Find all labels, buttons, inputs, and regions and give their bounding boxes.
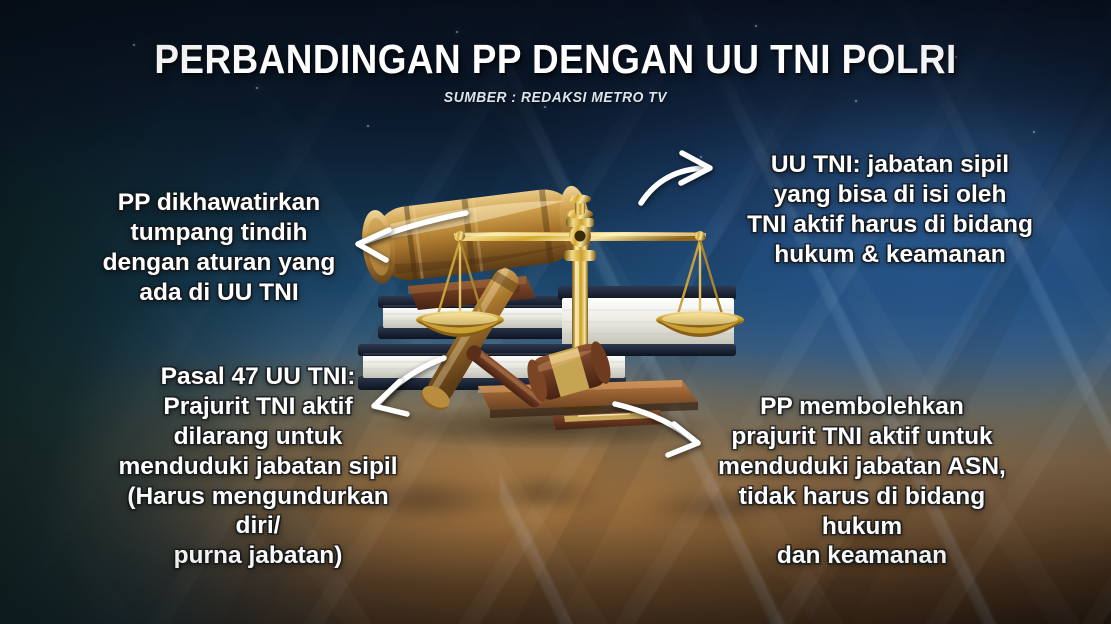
callout-bottom-left: Pasal 47 UU TNI: Prajurit TNI aktif dila… bbox=[108, 362, 408, 571]
callout-top-right: UU TNI: jabatan sipil yang bisa di isi o… bbox=[714, 150, 1066, 270]
header: PERBANDINGAN PP DENGAN UU TNI POLRI SUMB… bbox=[0, 36, 1111, 106]
page-title: PERBANDINGAN PP DENGAN UU TNI POLRI bbox=[56, 36, 1056, 83]
infographic-canvas: PERBANDINGAN PP DENGAN UU TNI POLRI SUMB… bbox=[0, 0, 1111, 624]
callout-top-left: PP dikhawatirkan tumpang tindih dengan a… bbox=[88, 188, 350, 308]
callout-bottom-right: PP membolehkan prajurit TNI aktif untuk … bbox=[702, 392, 1022, 571]
page-subtitle-source: SUMBER : REDAKSI METRO TV bbox=[44, 89, 1066, 106]
